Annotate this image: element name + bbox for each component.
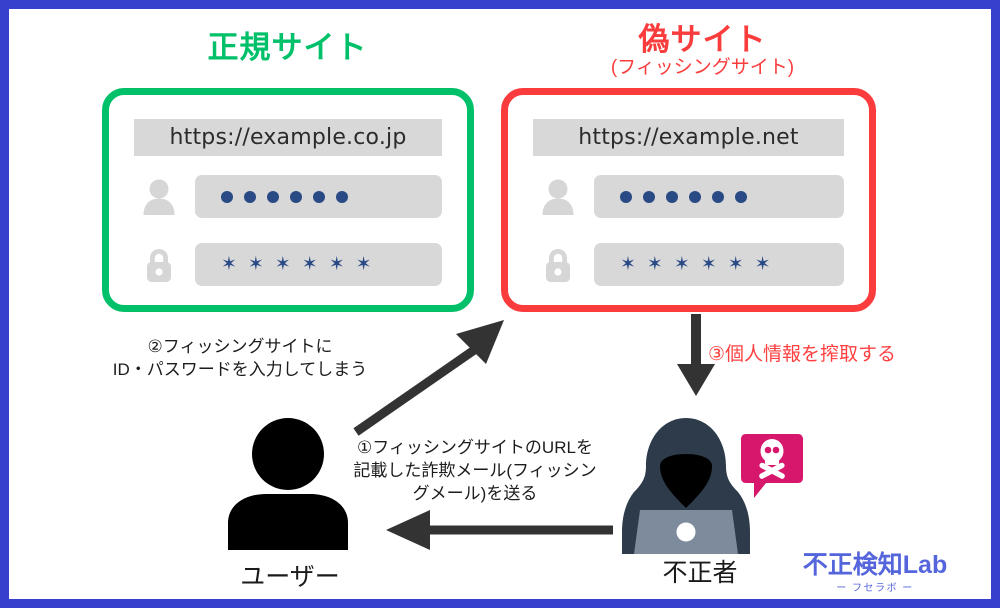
attacker-label: 不正者 [610, 553, 790, 589]
step-3-annotation: ③個人情報を搾取する [708, 342, 896, 368]
brand-logo: 不正検知Lab ー フセラボ ー [790, 552, 960, 594]
masked-char: ✶ [329, 255, 345, 274]
masked-char [712, 191, 724, 203]
masked-char [666, 191, 678, 203]
fake-site-browser-box: https://example.net [501, 88, 876, 312]
masked-char: ✶ [275, 255, 291, 274]
masked-char: ✶ [248, 255, 264, 274]
step-1-annotation: ①フィッシングサイトのURLを 記載した詐欺メール(フィッシン グメール)を送る [352, 437, 598, 506]
masked-char [689, 191, 701, 203]
arrow-attacker-to-user [370, 508, 615, 554]
masked-char [336, 191, 348, 203]
legit-site-title: 正規サイト [100, 22, 475, 67]
legit-site-password-input[interactable]: ✶ ✶ ✶ ✶ ✶ ✶ [195, 243, 442, 286]
hacker-hoodie-icon [620, 412, 805, 559]
legit-site-id-input[interactable] [195, 175, 442, 218]
fake-site-url-bar[interactable]: https://example.net [533, 119, 844, 156]
masked-char [620, 191, 632, 203]
masked-char: ✶ [356, 255, 372, 274]
masked-char [267, 191, 279, 203]
masked-char: ✶ [728, 255, 744, 274]
arrow-user-to-fake-site [352, 312, 517, 437]
user-avatar-icon [222, 418, 355, 555]
user-label: ユーザー [195, 557, 385, 593]
masked-char: ✶ [302, 255, 318, 274]
masked-char [735, 191, 747, 203]
fake-site-id-row [536, 175, 844, 218]
masked-char [643, 191, 655, 203]
lock-icon [137, 243, 181, 286]
masked-char: ✶ [701, 255, 717, 274]
fake-site-id-input[interactable] [594, 175, 844, 218]
masked-char: ✶ [647, 255, 663, 274]
masked-char: ✶ [221, 255, 237, 274]
brand-subtitle: ー フセラボ ー [790, 579, 960, 594]
legit-site-id-row [137, 175, 442, 218]
brand-name: 不正検知Lab [790, 552, 960, 578]
fake-site-password-row: ✶ ✶ ✶ ✶ ✶ ✶ [536, 243, 844, 286]
masked-char: ✶ [674, 255, 690, 274]
arrow-fake-site-to-attacker [665, 312, 731, 400]
masked-char [221, 191, 233, 203]
fake-site-subtitle: (フィッシングサイト) [520, 52, 885, 79]
masked-char [244, 191, 256, 203]
diagram-canvas: 正規サイト https://example.co.jp [0, 0, 1000, 608]
fake-site-password-input[interactable]: ✶ ✶ ✶ ✶ ✶ ✶ [594, 243, 844, 286]
legit-site-browser-box: https://example.co.jp [102, 88, 474, 312]
legit-site-url-bar[interactable]: https://example.co.jp [134, 119, 442, 156]
legit-site-password-row: ✶ ✶ ✶ ✶ ✶ ✶ [137, 243, 442, 286]
user-icon [536, 175, 580, 218]
lock-icon [536, 243, 580, 286]
masked-char: ✶ [620, 255, 636, 274]
masked-char: ✶ [755, 255, 771, 274]
masked-char [290, 191, 302, 203]
masked-char [313, 191, 325, 203]
user-icon [137, 175, 181, 218]
